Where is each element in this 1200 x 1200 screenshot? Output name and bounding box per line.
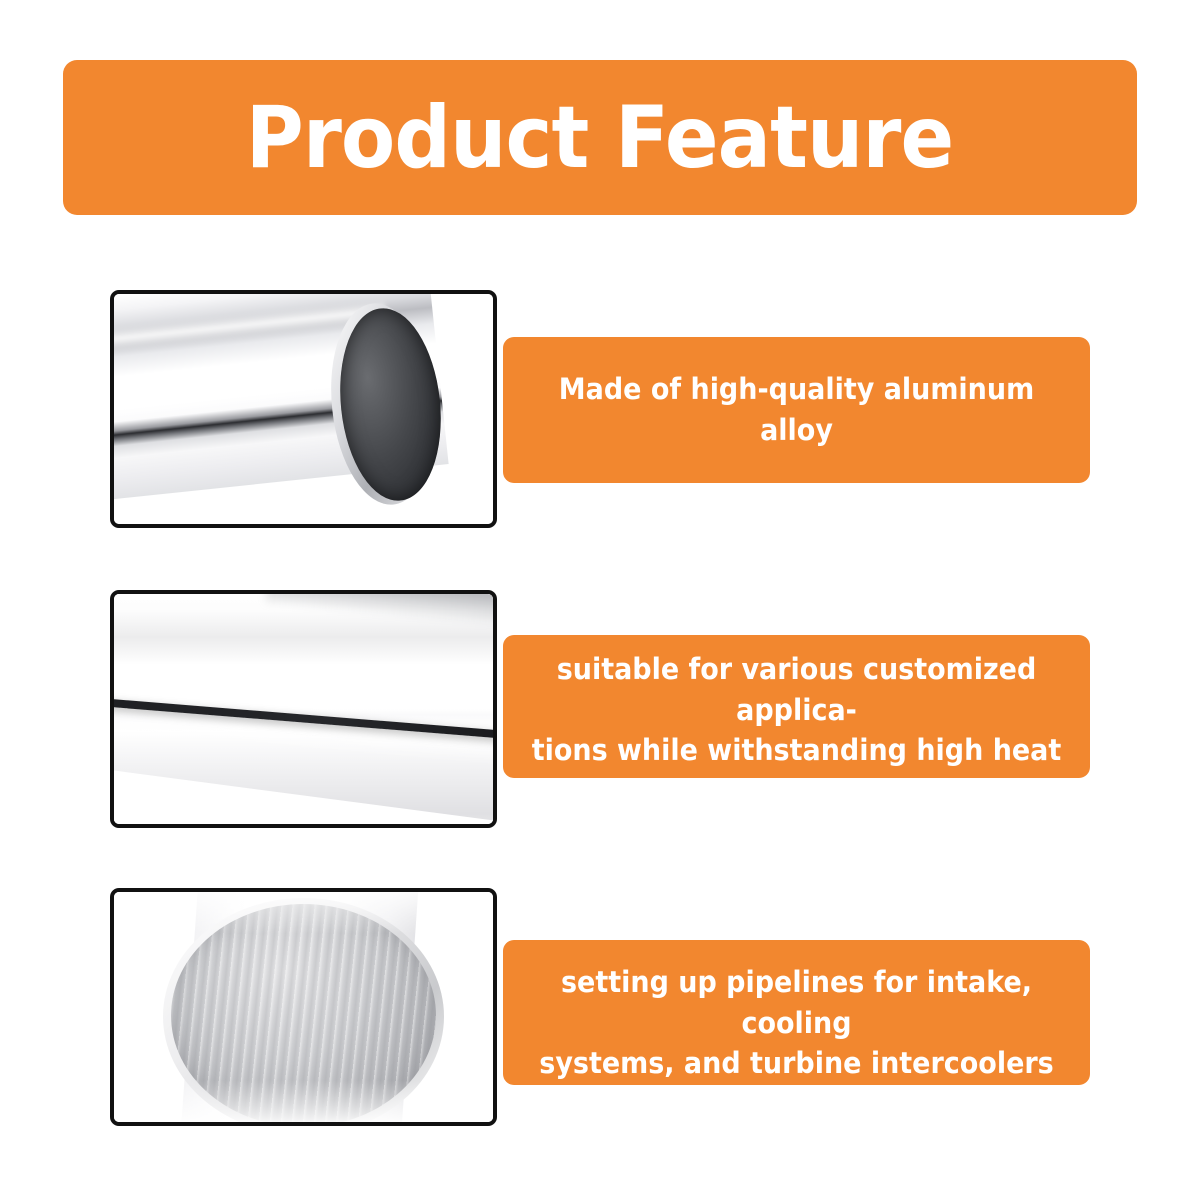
feature-caption-panel-2: suitable for various customized applica-…: [503, 635, 1090, 778]
aluminum-tube-angled-open-end-image: [114, 294, 493, 524]
feature-caption-text-2: suitable for various customized applica-…: [524, 649, 1070, 852]
aluminum-tube-end-face-image: [114, 892, 493, 1122]
feature-image-frame-1: [110, 290, 497, 528]
feature-image-frame-2: [110, 590, 497, 828]
feature-caption-panel-3: setting up pipelines for intake, cooling…: [503, 940, 1090, 1085]
feature-caption-text-3: setting up pipelines for intake, cooling…: [524, 962, 1070, 1084]
product-feature-infographic: Product Feature Made of high-quality alu…: [0, 0, 1200, 1200]
tube-end-light-wash: [114, 892, 493, 1122]
feature-caption-panel-1: Made of high-quality aluminum alloy: [503, 337, 1090, 483]
page-title: Product Feature: [246, 95, 954, 181]
header-banner: Product Feature: [63, 60, 1137, 215]
feature-caption-text-1: Made of high-quality aluminum alloy: [524, 369, 1070, 450]
aluminum-tube-surface-closeup-image: [114, 594, 493, 824]
feature-image-frame-3: [110, 888, 497, 1126]
